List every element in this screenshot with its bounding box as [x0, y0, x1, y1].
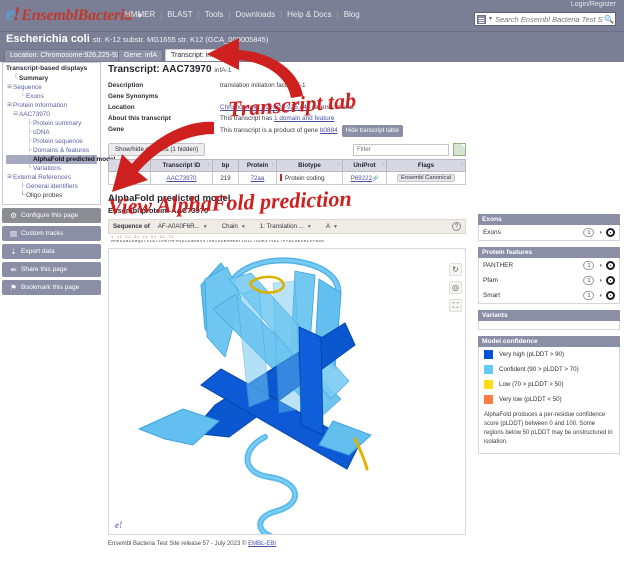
chain-select[interactable]: A▼: [326, 223, 338, 230]
chevron-down-icon: ▼: [241, 224, 246, 230]
info-value: translation initiation factor IF-1: [220, 81, 306, 91]
nav-downloads[interactable]: Downloads: [230, 10, 280, 19]
about-prefix: This transcript has: [220, 115, 274, 122]
nav-tools[interactable]: Tools: [200, 10, 229, 19]
exons-panel-body: Exons 1 ◑: [478, 225, 620, 241]
legend-swatch-very-low: [484, 395, 493, 404]
variants-empty-row: [479, 321, 619, 329]
alphafold-protein-subtitle: Ensembl protein: AAC73970: [108, 206, 476, 215]
column-header-uniprot[interactable]: UniProt↕: [343, 160, 387, 172]
model-select[interactable]: AF-A0A0F6R...▼: [158, 223, 208, 230]
embl-ebi-link[interactable]: EMBL-EBI: [248, 541, 276, 547]
gear-icon[interactable]: [606, 291, 615, 300]
track-label: Smart: [483, 292, 583, 299]
sidebar-item-label: AAC73970: [19, 110, 50, 119]
sidebar-item-variations[interactable]: └ Variations: [6, 164, 97, 173]
legend-label: Low (70 > pLDDT > 50): [499, 381, 564, 388]
sort-icon[interactable]: ↕: [272, 162, 274, 167]
body-area: Transcript-based displays └ Summary ⊞ Se…: [0, 62, 624, 563]
panel-title-protein-features: Protein features: [478, 247, 620, 258]
species-bar: Escherichia coli str. K-12 substr. MG165…: [0, 32, 624, 48]
logo-wordmark: EnsemblBacteria: [21, 7, 132, 25]
login-register-link[interactable]: Login/Register: [571, 1, 616, 8]
track-count-badge: 1: [583, 228, 594, 237]
apt-toggle-icon[interactable]: ◑: [598, 293, 602, 299]
tree-dash-icon: ├: [26, 146, 33, 155]
page-title: Transcript: AAC73970 infA-1: [108, 64, 476, 75]
track-label: Exons: [483, 229, 583, 236]
sidebar-item-label: Sequence: [13, 83, 42, 92]
sidebar-item-label: Domains & features: [33, 146, 89, 155]
location-link[interactable]: Chromosome: 926,225-926,443: [220, 104, 310, 111]
transcript-info-table: Description translation initiation facto…: [108, 81, 476, 137]
hide-transcript-table-button[interactable]: Hide transcript table: [342, 125, 403, 137]
protein-features-panel-body: PANTHER 1 ◑ Pfam 1 ◑ Smart 1 ◑: [478, 258, 620, 304]
tree-dash-icon: └: [12, 74, 19, 83]
tree-dash-icon: ├: [26, 137, 33, 146]
track-row-exons[interactable]: Exons 1 ◑: [479, 225, 619, 240]
column-header-protein[interactable]: Protein↕: [239, 160, 277, 172]
track-row-panther[interactable]: PANTHER 1 ◑: [479, 258, 619, 273]
sidebar-item-label: Oligo probes: [26, 191, 62, 200]
button-label: Share this page: [21, 266, 67, 273]
sort-icon[interactable]: ↕: [461, 162, 463, 167]
sidebar-item-sequence[interactable]: ⊞ Sequence: [6, 83, 97, 92]
sidebar-item-label: Protein Information: [13, 101, 67, 110]
footer-text: Ensembl Bacteria Test Site release 57 - …: [108, 541, 248, 547]
status-badge: Ensembl Canonical: [397, 174, 455, 182]
apt-toggle-icon[interactable]: ◑: [598, 230, 602, 236]
biotype-label: Protein coding: [285, 175, 325, 182]
sidebar-item-aac73970[interactable]: ⊟ AAC73970: [6, 110, 97, 119]
tracks-icon: ▤: [8, 229, 19, 238]
legend-label: Very high (pLDDT > 90): [499, 351, 564, 358]
table-row: infA-1 AAC73970 219 72aa Protein coding …: [109, 172, 466, 185]
sort-icon[interactable]: ↕: [382, 162, 384, 167]
info-key: About this transcript: [108, 114, 220, 124]
sequence-residues[interactable]: MAKEDNIEMQGTVLETLPNTMFRVELENGHVVTAHISGKM…: [108, 240, 466, 246]
protein-length-link[interactable]: 72aa: [251, 175, 265, 182]
chevron-down-icon: ▼: [307, 224, 312, 230]
tab-transcript[interactable]: Transcript: infA-1: [165, 49, 230, 61]
fullscreen-icon[interactable]: ⛶: [449, 299, 462, 312]
column-header-name[interactable]: Name↕: [109, 160, 151, 172]
chevron-down-icon: ▼: [203, 224, 208, 230]
gear-icon[interactable]: [606, 261, 615, 270]
model-confidence-panel: Model confidence Very high (pLDDT > 90) …: [478, 336, 620, 454]
gear-icon[interactable]: [606, 228, 615, 237]
sidebar-item-label: Variations: [33, 164, 61, 173]
species-title: Escherichia coli str. K-12 substr. MG165…: [6, 33, 268, 45]
right-sidebar: Exons Exons 1 ◑ Protein features PANTHER…: [478, 62, 622, 563]
sidebar-item-summary[interactable]: └ Summary: [6, 74, 97, 83]
logo-exclamation-glyph: !: [13, 4, 20, 26]
translation-select[interactable]: 1: Translation ...▼: [260, 223, 312, 230]
page-footer: Ensembl Bacteria Test Site release 57 - …: [108, 541, 476, 547]
help-icon[interactable]: ?: [452, 222, 461, 231]
gear-icon[interactable]: [606, 276, 615, 285]
sidebar-item-exons[interactable]: └ Exons: [6, 92, 97, 101]
location-suffix: reverse strand.: [310, 104, 354, 111]
sidebar-item-general-identifiers[interactable]: ├ General identifiers: [6, 182, 97, 191]
cell-flags: Ensembl Canonical: [387, 172, 466, 185]
chain-label: Chain▼: [222, 223, 246, 230]
tree-dash-icon: └: [19, 191, 26, 200]
tree-dash-icon: └: [19, 92, 26, 101]
model-confidence-body: Very high (pLDDT > 90) Confident (90 > p…: [478, 347, 620, 454]
sidebar-item-label: Exons: [26, 92, 44, 101]
sequence-toolbar: Sequence of AF-A0A0F6R...▼ Chain▼ 1: Tra…: [108, 219, 466, 234]
species-strain-text: str. K-12 substr. MG1655 str. K12 (GCA_0…: [93, 35, 269, 44]
sort-icon[interactable]: ↕: [146, 162, 148, 167]
biotype-color-bar: [280, 174, 282, 181]
protein-features-panel: Protein features PANTHER 1 ◑ Pfam 1 ◑: [478, 247, 620, 304]
button-label: Configure this page: [21, 212, 78, 219]
export-icon: ⇣: [8, 247, 19, 256]
sidebar-item-external-references[interactable]: ⊞ External References: [6, 173, 97, 182]
legend-swatch-very-high: [484, 350, 493, 359]
masthead: Login/Register e ! EnsemblBacteria ▼ HMM…: [0, 0, 624, 32]
legend-item-very-high: Very high (pLDDT > 90): [479, 347, 619, 362]
sidebar-item-protein-information[interactable]: ⊞ Protein Information: [6, 101, 97, 110]
bookmark-this-page-button[interactable]: ⚑ Bookmark this page: [2, 280, 101, 295]
site-search[interactable]: ▼ 🔍: [474, 12, 616, 26]
info-key: Gene: [108, 125, 220, 137]
info-value: Chromosome: 926,225-926,443 reverse stra…: [220, 103, 355, 113]
panel-title-variants: Variants: [478, 310, 620, 321]
configure-this-page-button[interactable]: ⚙ Configure this page: [2, 208, 101, 223]
show-hide-columns-button[interactable]: Show/hide columns (1 hidden): [108, 143, 205, 156]
tree-expand-icon[interactable]: ⊞: [6, 83, 13, 92]
sidebar-item-domains-features[interactable]: ├ Domains & features: [6, 146, 97, 155]
transcript-table: Name↕ Transcript ID↕ bp Protein↕ Biotype…: [108, 159, 466, 185]
sidebar-item-protein-sequence[interactable]: ├ Protein sequence: [6, 137, 97, 146]
track-label: PANTHER: [483, 262, 583, 269]
track-row-smart[interactable]: Smart 1 ◑: [479, 288, 619, 303]
track-count-badge: 1: [583, 291, 594, 300]
sidebar-item-cdna[interactable]: ├ cDNA: [6, 128, 97, 137]
nav-hmmer[interactable]: HMMER: [120, 10, 160, 19]
sidebar-item-oligo-probes[interactable]: └ Oligo probes: [6, 191, 97, 200]
info-value: This transcript has 1 domain and feature: [220, 114, 334, 124]
legend-item-low: Low (70 > pLDDT > 50): [479, 377, 619, 392]
info-value: This transcript is a product of gene b08…: [220, 125, 403, 137]
transcript-table-wrapper: Show/hide columns (1 hidden) Name↕ Trans…: [108, 143, 466, 185]
viewer-controls: ↻ ◎ ⛶: [449, 263, 462, 312]
tree-dash-icon: ├: [26, 119, 33, 128]
track-label: Pfam: [483, 277, 583, 284]
apt-toggle-icon[interactable]: ◑: [598, 278, 602, 284]
gene-prefix: This transcript is a product of gene: [220, 127, 320, 134]
column-header-bp[interactable]: bp: [213, 160, 239, 172]
sidebar-item-label: Protein summary: [33, 119, 81, 128]
column-header-transcript-id[interactable]: Transcript ID↕: [151, 160, 213, 172]
variants-panel-body: [478, 321, 620, 330]
export-data-button[interactable]: ⇣ Export data: [2, 244, 101, 259]
legend-item-confident: Confident (90 > pLDDT > 70): [479, 362, 619, 377]
exons-panel: Exons Exons 1 ◑: [478, 214, 620, 241]
chevron-down-icon[interactable]: ▼: [488, 16, 493, 22]
protein-structure-render: [109, 249, 466, 535]
share-icon: ⇚: [8, 265, 19, 274]
sidebar-item-label: AlphaFold predicted model: [33, 155, 115, 164]
info-key: Gene Synonyms: [108, 92, 220, 102]
main-content: Transcript: AAC73970 infA-1 Description …: [106, 62, 476, 563]
cell-name: infA-1: [109, 172, 151, 185]
left-sidebar: Transcript-based displays └ Summary ⊞ Se…: [0, 62, 104, 563]
legend-swatch-confident: [484, 365, 493, 374]
variants-panel: Variants: [478, 310, 620, 330]
button-label: Custom tracks: [21, 230, 63, 237]
reset-view-icon[interactable]: ↻: [449, 263, 462, 276]
legend-label: Confident (90 > pLDDT > 70): [499, 366, 579, 373]
cell-bp: 219: [213, 172, 239, 185]
button-label: Bookmark this page: [21, 284, 79, 291]
tree-collapse-icon[interactable]: ⊟: [12, 110, 19, 119]
sort-icon[interactable]: ↕: [208, 162, 210, 167]
nav-help-docs[interactable]: Help & Docs: [282, 10, 336, 19]
track-row-pfam[interactable]: Pfam 1 ◑: [479, 273, 619, 288]
model-confidence-note: AlphaFold produces a per-residue confide…: [479, 407, 619, 453]
table-toolbar-right: [353, 143, 466, 156]
sidebar-item-label: Protein sequence: [33, 137, 83, 146]
ensembl-transcript-page: Login/Register e ! EnsemblBacteria ▼ HMM…: [0, 0, 624, 563]
tree-expand-icon[interactable]: ⊞: [6, 101, 13, 110]
nav-blast[interactable]: BLAST: [162, 10, 197, 19]
export-table-icon[interactable]: [453, 143, 466, 156]
apt-toggle-icon[interactable]: ◑: [598, 263, 602, 269]
page-title-text: Transcript: AAC73970: [108, 64, 212, 75]
sidebar-title: Transcript-based displays: [6, 65, 97, 72]
panel-title-exons: Exons: [478, 214, 620, 225]
bookmark-icon: ⚑: [8, 283, 19, 292]
domains-features-link[interactable]: 1 domain and feature: [274, 115, 334, 122]
sidebar-item-label: cDNA: [33, 128, 50, 137]
info-row-location: Location Chromosome: 926,225-926,443 rev…: [108, 103, 476, 113]
cell-protein: 72aa: [239, 172, 277, 185]
sequence-of-label: Sequence of: [113, 223, 150, 230]
info-row-gene-synonyms: Gene Synonyms: [108, 92, 476, 102]
tree-dash-icon: ├: [26, 155, 33, 164]
uniprot-link[interactable]: P69222: [351, 175, 372, 182]
center-focus-icon[interactable]: ◎: [449, 281, 462, 294]
info-key: Description: [108, 81, 220, 91]
share-this-page-button[interactable]: ⇚ Share this page: [2, 262, 101, 277]
nav-blog[interactable]: Blog: [339, 10, 365, 19]
entity-tab-bar: Location: Chromosome:926,225-926,443 Gen…: [0, 48, 624, 62]
sidebar-item-alphafold-predicted-model[interactable]: ├ AlphaFold predicted model: [6, 155, 97, 164]
gear-icon: ⚙: [8, 211, 19, 220]
legend-swatch-low: [484, 380, 493, 389]
chevron-down-icon: ▼: [333, 224, 338, 230]
transcript-id-link[interactable]: AAC73970: [167, 175, 197, 182]
column-header-biotype[interactable]: Biotype↕: [277, 160, 343, 172]
tree-dash-icon: └: [26, 164, 33, 173]
search-icon[interactable]: 🔍: [603, 15, 615, 24]
site-selector-icon[interactable]: [477, 15, 486, 24]
sidebar-item-label: General identifiers: [26, 182, 78, 191]
alphafold-3d-viewer[interactable]: ↻ ◎ ⛶ e!: [108, 248, 466, 535]
table-header-row: Name↕ Transcript ID↕ bp Protein↕ Biotype…: [109, 160, 466, 172]
alphafold-section-title: AlphaFold predicted model: [108, 193, 476, 204]
info-row-about-this-transcript: About this transcript This transcript ha…: [108, 114, 476, 124]
transcript-table-toolbar: Show/hide columns (1 hidden): [108, 143, 466, 156]
species-name-text: Escherichia coli: [6, 33, 90, 45]
tree-dash-icon: ├: [26, 128, 33, 137]
track-count-badge: 1: [583, 276, 594, 285]
sort-icon[interactable]: ↕: [338, 162, 340, 167]
viewer-ensembl-logo: e!: [115, 520, 123, 530]
sidebar-item-label: External References: [13, 173, 71, 182]
cell-biotype: Protein coding: [277, 172, 343, 185]
sidebar-item-protein-summary[interactable]: ├ Protein summary: [6, 119, 97, 128]
info-key: Location: [108, 103, 220, 113]
button-label: Export data: [21, 248, 55, 255]
track-count-badge: 1: [583, 261, 594, 270]
tree-dash-icon: ├: [19, 182, 26, 191]
transcript-displays-panel: Transcript-based displays └ Summary ⊞ Se…: [2, 62, 101, 205]
custom-tracks-button[interactable]: ▤ Custom tracks: [2, 226, 101, 241]
top-navigation: HMMER | BLAST | Tools | Downloads | Help…: [120, 10, 365, 19]
search-input[interactable]: [495, 15, 603, 24]
sidebar-item-label: Summary: [19, 74, 48, 83]
info-row-gene: Gene This transcript is a product of gen…: [108, 125, 476, 137]
tab-gene[interactable]: Gene: infA: [118, 49, 163, 61]
gene-link[interactable]: b0884: [320, 127, 338, 134]
legend-item-very-low: Very low (pLDDT < 50): [479, 392, 619, 407]
table-filter-input[interactable]: [353, 144, 449, 156]
external-link-icon: 🔗: [372, 176, 378, 182]
legend-label: Very low (pLDDT < 50): [499, 396, 562, 403]
cell-uniprot: P69222🔗: [343, 172, 387, 185]
panel-title-model-confidence: Model confidence: [478, 336, 620, 347]
cell-transcript-id: AAC73970: [151, 172, 213, 185]
info-row-description: Description translation initiation facto…: [108, 81, 476, 91]
page-title-subtext: infA-1: [214, 67, 231, 74]
column-header-flags[interactable]: Flags↕: [387, 160, 466, 172]
tree-expand-icon[interactable]: ⊞: [6, 173, 13, 182]
